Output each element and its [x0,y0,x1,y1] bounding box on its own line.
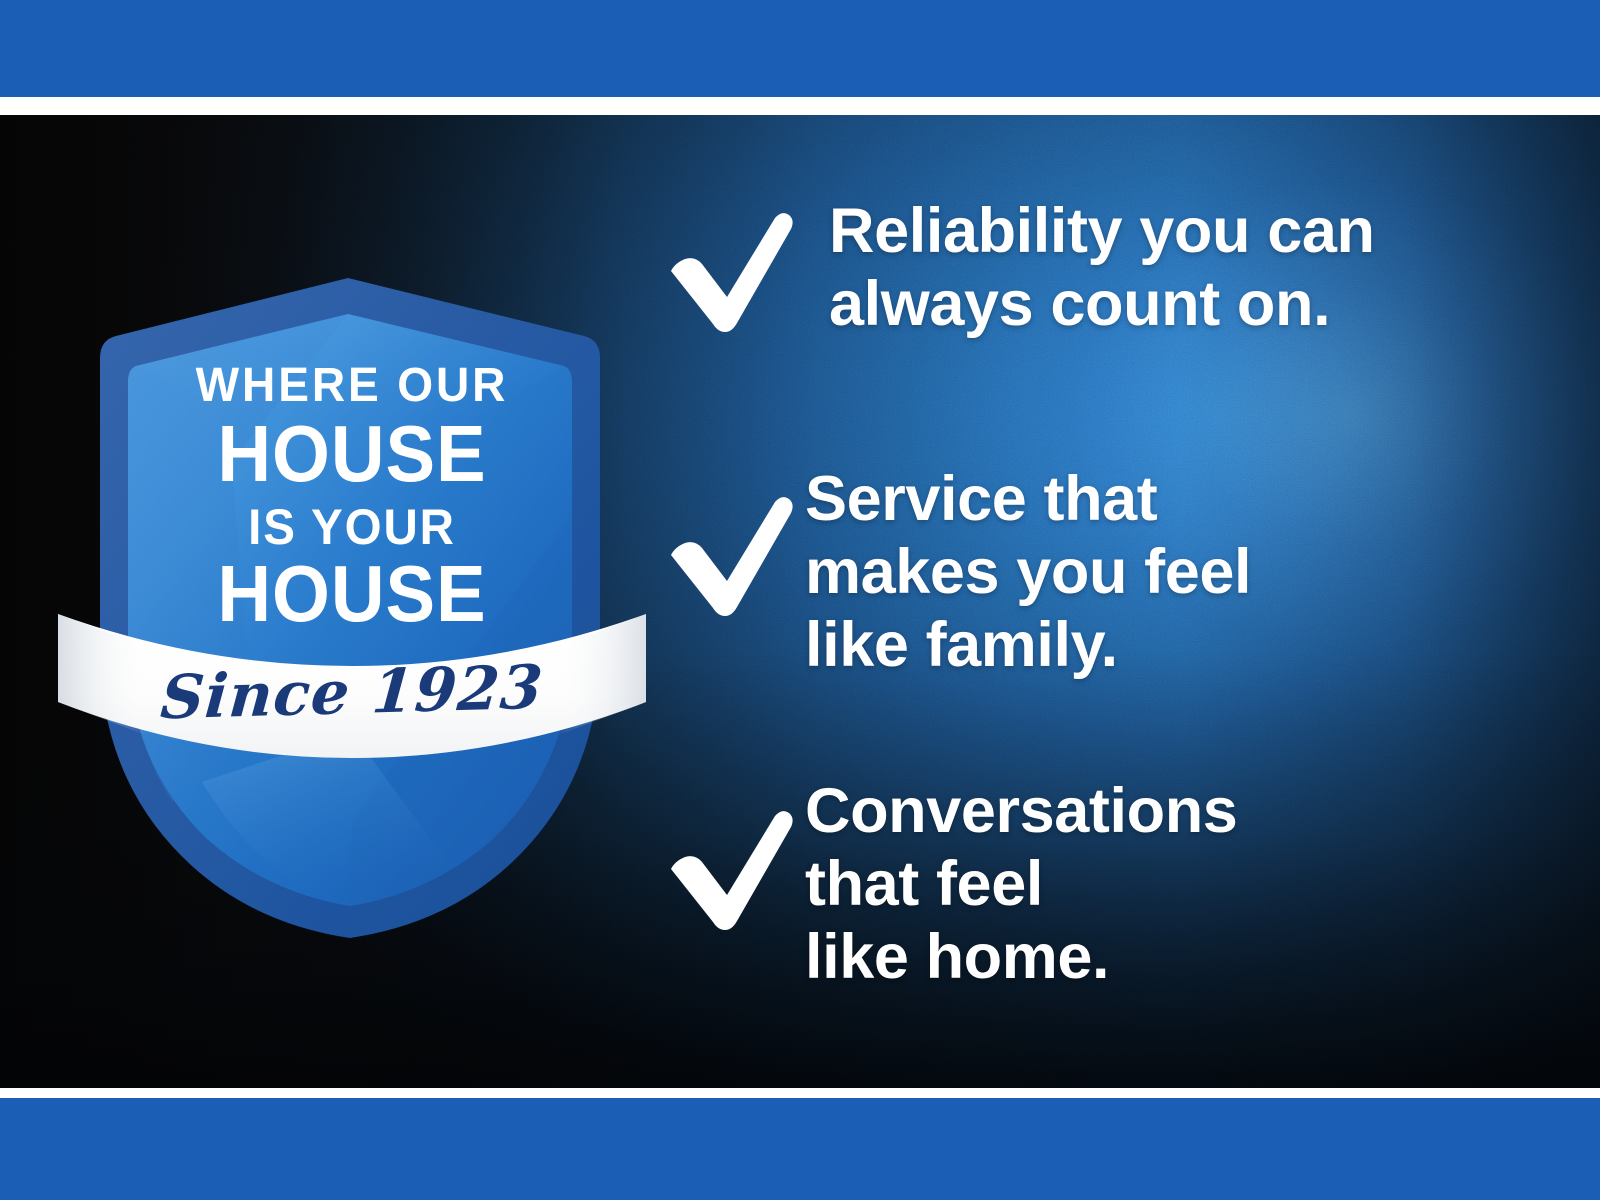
shield-badge: WHERE OUR HOUSE IS YOUR HOUSE Since 1923 [52,262,652,962]
list-item: Service that makes you feel like family. [665,463,1545,682]
check-icon [665,213,795,333]
check-icon [665,497,795,617]
list-item-text: Reliability you can always count on. [829,195,1545,341]
list-item-text: Conversations that feel like home. [805,775,1545,994]
badge-line-3: IS YOUR [67,502,637,552]
badge-line-4: HOUSE [73,554,631,634]
top-brand-bar [0,0,1600,97]
bottom-white-divider [0,1088,1600,1098]
badge-line-2: HOUSE [73,414,631,494]
list-item-text: Service that makes you feel like family. [805,463,1545,682]
promo-graphic: WHERE OUR HOUSE IS YOUR HOUSE Since 1923… [0,0,1600,1200]
check-icon [665,811,795,931]
badge-line-1: WHERE OUR [64,362,640,410]
list-item: Conversations that feel like home. [665,775,1545,994]
bottom-brand-bar [0,1098,1600,1200]
top-white-divider [0,97,1600,115]
list-item: Reliability you can always count on. [665,195,1545,341]
